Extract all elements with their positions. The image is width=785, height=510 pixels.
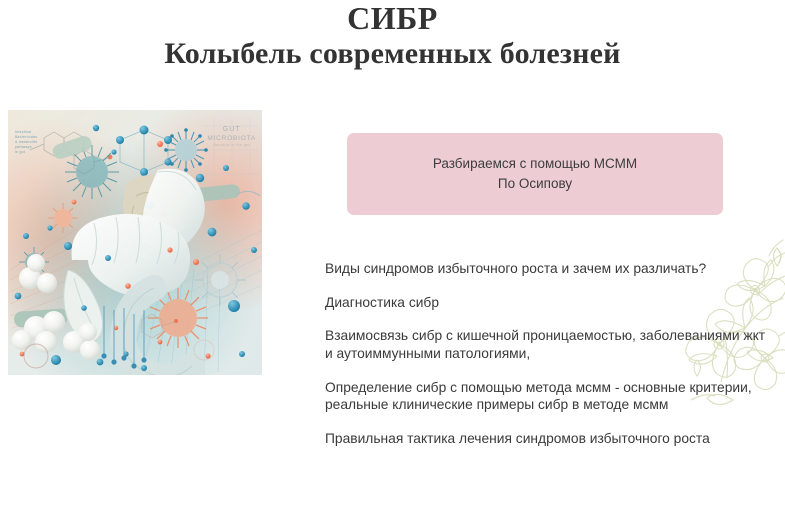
title-main-text: СИБР [0, 2, 785, 36]
gut-microbiota-image: GUT MICROBIOTA Bacteria in the gut Intes… [8, 110, 262, 375]
callout-text: Разбираемся с помощью МСММ По Осипову [419, 154, 651, 193]
topic-item: Правильная тактика лечения синдромов изб… [325, 430, 775, 448]
topic-item: Взаимосвязь сибр с кишечной проницаемост… [325, 327, 775, 362]
topics-list: Виды синдромов избыточного роста и зачем… [325, 260, 775, 448]
topic-item: Виды синдромов избыточного роста и зачем… [325, 260, 775, 278]
topic-item: Диагностика сибр [325, 294, 775, 312]
title-subtitle-text: Колыбель современных болезней [0, 37, 785, 71]
topic-item: Определение сибр с помощью метода мсмм -… [325, 379, 775, 414]
callout-box: Разбираемся с помощью МСММ По Осипову [347, 133, 723, 215]
page-title: СИБР Колыбель современных болезней [0, 2, 785, 70]
